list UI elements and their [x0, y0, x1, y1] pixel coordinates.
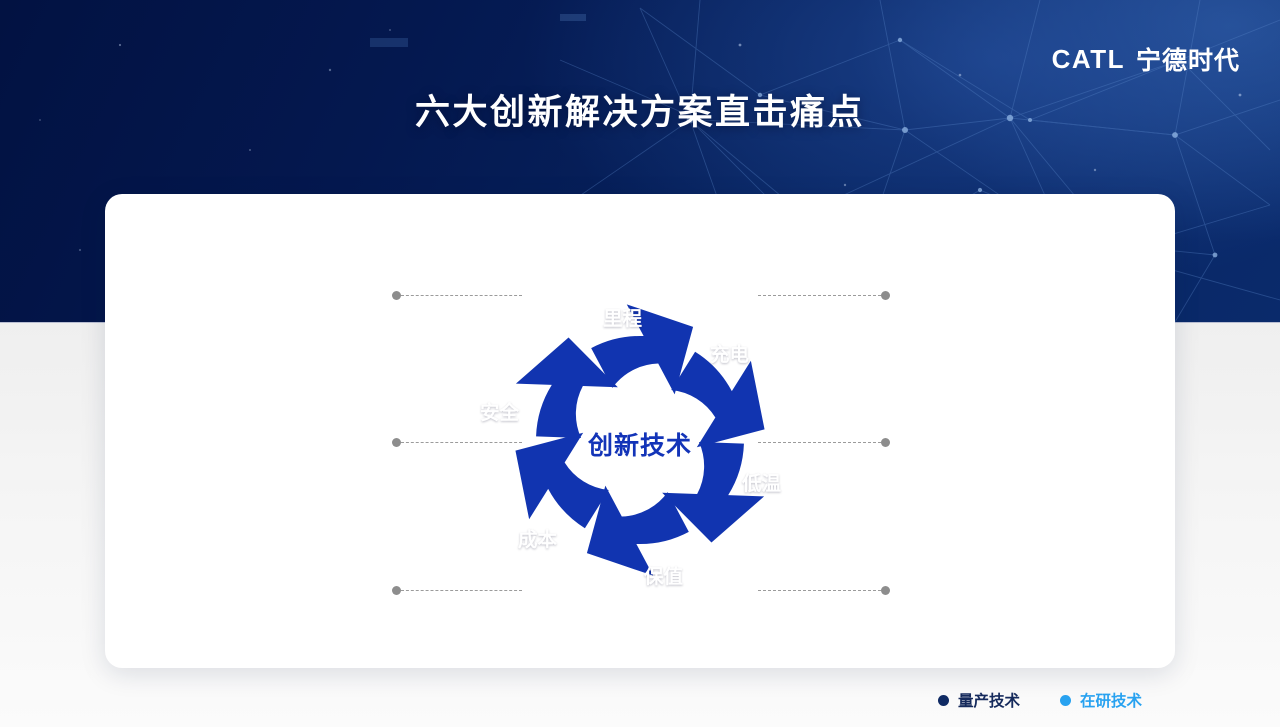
- logo-chinese-text: 宁德时代: [1136, 41, 1240, 77]
- connector-05-dot: [392, 586, 401, 595]
- page-title: 六大创新解决方案直击痛点: [0, 84, 1280, 135]
- cycle-label-upper-left: 安全: [480, 396, 519, 425]
- legend-item-mass-production: 量产技术: [938, 689, 1020, 711]
- slide-root: CATL 宁德时代 六大创新解决方案直击痛点 01 高镍+硅负极 高压无钴 无金…: [0, 0, 1280, 727]
- cycle-label-lower-right: 低温: [742, 467, 781, 496]
- legend-item-in-research: 在研技术: [1060, 689, 1142, 711]
- catl-logo: CATL 宁德时代: [1052, 41, 1240, 77]
- connector-02-dot: [881, 291, 890, 300]
- cycle-label-lower-left: 成本: [518, 523, 557, 552]
- legend: 量产技术 在研技术: [938, 689, 1142, 711]
- cycle-diagram: 里程 充电 低温 保值 成本 安全 创新技术: [448, 238, 832, 642]
- connector-04-dot: [881, 586, 890, 595]
- legend-label-mass-production: 量产技术: [958, 689, 1020, 711]
- connector-06-dot: [392, 438, 401, 447]
- legend-label-in-research: 在研技术: [1080, 689, 1142, 711]
- legend-dot-mass-production: [938, 695, 949, 706]
- cycle-label-bottom: 保值: [644, 560, 683, 589]
- legend-dot-in-research: [1060, 695, 1071, 706]
- connector-01-dot: [392, 291, 401, 300]
- cycle-label-upper-right: 充电: [710, 338, 749, 367]
- cycle-label-top: 里程: [603, 302, 642, 331]
- cycle-center-label: 创新技术: [448, 426, 832, 462]
- connector-03-dot: [881, 438, 890, 447]
- logo-latin-text: CATL: [1052, 44, 1125, 75]
